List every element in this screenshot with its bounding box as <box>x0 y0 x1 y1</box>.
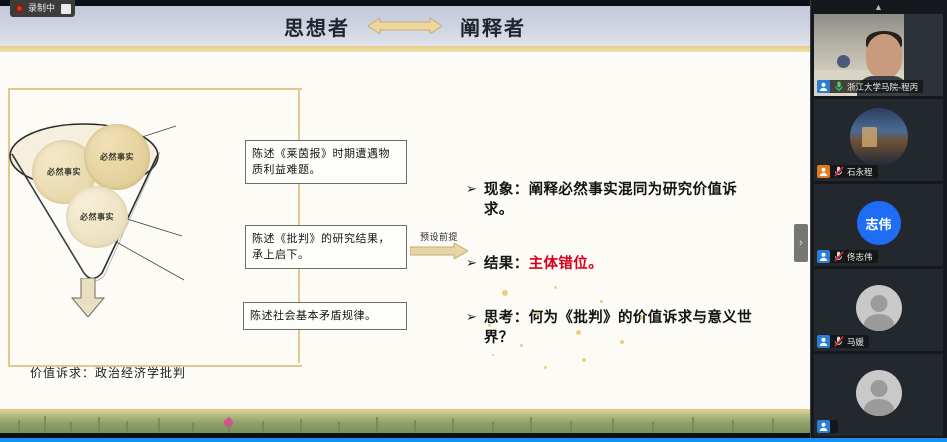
participant-nameplate <box>817 420 838 433</box>
participant-avatar-photo <box>850 108 908 166</box>
fact-circle-3: 必然事实 <box>66 186 128 248</box>
bullet-item-phenomenon: ➢ 现象：阐释必然事实混同为研究价值诉求。 <box>466 180 766 220</box>
recording-dot-icon <box>15 4 24 13</box>
microphone-muted-icon <box>833 250 844 263</box>
value-claim-text: 价值诉求：政治经济学批判 <box>30 364 186 381</box>
participant-avatar-initials: 志伟 <box>857 201 901 245</box>
filmstrip-divider <box>810 0 811 442</box>
bullet-text: 现象：阐释必然事实混同为研究价值诉求。 <box>484 180 766 220</box>
slide-footer-grass-decoration <box>0 409 810 433</box>
participant-tile[interactable]: 石永程 <box>814 99 943 181</box>
callout-box-3: 陈述社会基本矛盾规律。 <box>243 302 407 330</box>
participant-name: 马媛 <box>847 336 864 348</box>
bullet-text-highlight: 主体错位。 <box>529 256 604 272</box>
participant-nameplate: 马媛 <box>817 335 869 348</box>
participant-name: 石永程 <box>847 166 873 178</box>
participant-name: 佟志伟 <box>847 251 873 263</box>
meeting-screen-share-window: 思想者 阐释者 <box>0 0 947 442</box>
funnel-diagram: 必然事实 必然事实 必然事实 <box>6 108 236 328</box>
presentation-slide: 思想者 阐释者 <box>0 6 810 433</box>
slide-next-button[interactable]: › <box>794 224 808 262</box>
participant-nameplate: 佟志伟 <box>817 250 878 263</box>
bullet-marker-icon: ➢ <box>466 180 477 198</box>
participant-tile[interactable]: 浙江大学马院-程丙 <box>814 14 943 96</box>
participant-nameplate: 浙江大学马院-程丙 <box>817 80 923 93</box>
stop-recording-icon[interactable] <box>61 4 71 14</box>
slide-header-band: 思想者 阐释者 <box>0 6 810 46</box>
bullet-marker-icon: ➢ <box>466 308 477 326</box>
flower-decoration <box>224 418 233 427</box>
bullet-list: ➢ 现象：阐释必然事实混同为研究价值诉求。 ➢ 结果：主体错位。 ➢ 思考：何为… <box>466 180 766 382</box>
double-arrow-icon <box>368 18 442 34</box>
down-arrow-icon <box>70 278 106 323</box>
slide-body: 必然事实 必然事实 必然事实 陈述《莱茵报》时期遭遇物质利益难题。 <box>0 52 810 407</box>
participant-tile[interactable]: 志伟 佟志伟 <box>814 184 943 266</box>
participant-tile[interactable] <box>814 354 943 436</box>
fact-circle-2: 必然事实 <box>84 124 150 190</box>
premise-label: 预设前提 <box>408 230 470 243</box>
bullet-item-question: ➢ 思考：何为《批判》的价值诉求与意义世界？ <box>466 308 766 348</box>
participant-icon <box>817 80 830 93</box>
right-arrow-icon <box>410 246 468 263</box>
taskbar-strip <box>0 438 947 442</box>
participant-name: 浙江大学马院-程丙 <box>847 81 918 93</box>
participant-filmstrip: ▲ 浙江大学马院-程丙 <box>810 0 947 442</box>
premise-connector: 预设前提 <box>408 230 470 264</box>
participant-tile[interactable]: 马媛 <box>814 269 943 351</box>
callout-box-1: 陈述《莱茵报》时期遭遇物质利益难题。 <box>245 140 407 184</box>
grass-top-line <box>0 409 810 412</box>
slide-title-right: 阐释者 <box>460 12 526 41</box>
recording-label: 录制中 <box>28 0 55 17</box>
participant-icon <box>817 335 830 348</box>
slide-title-left: 思想者 <box>284 12 350 41</box>
participant-avatar-generic <box>856 370 902 416</box>
participant-icon <box>817 165 830 178</box>
participant-icon <box>817 250 830 263</box>
microphone-on-icon <box>833 80 844 93</box>
microphone-muted-icon <box>833 165 844 178</box>
bullet-marker-icon: ➢ <box>466 254 477 272</box>
bullet-text-prefix: 结果： <box>484 256 529 272</box>
filmstrip-scroll-up-button[interactable]: ▲ <box>810 0 947 14</box>
bullet-text: 思考：何为《批判》的价值诉求与意义世界？ <box>484 308 766 348</box>
fact-circle-label: 必然事实 <box>66 212 128 223</box>
participant-nameplate: 石永程 <box>817 165 878 178</box>
microphone-muted-icon <box>833 335 844 348</box>
shared-screen-stage: 思想者 阐释者 <box>0 0 810 442</box>
fact-circle-label: 必然事实 <box>84 152 150 163</box>
recording-indicator[interactable]: 录制中 <box>10 0 75 17</box>
participant-icon <box>817 420 830 433</box>
participant-avatar-generic <box>856 285 902 331</box>
bullet-item-result: ➢ 结果：主体错位。 <box>466 254 766 274</box>
callout-box-2: 陈述《批判》的研究结果，承上启下。 <box>245 225 407 269</box>
